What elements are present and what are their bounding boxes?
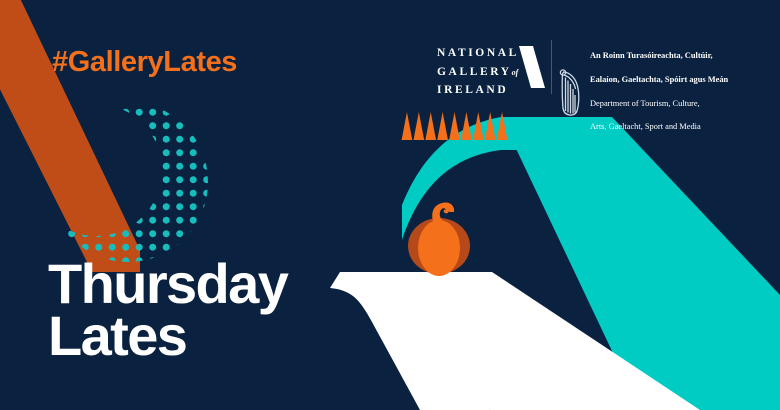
- ngi-line-national: NATIONAL: [437, 44, 519, 63]
- national-gallery-wordmark: NATIONAL GALLERYof IRELAND: [437, 44, 519, 100]
- dept-irish-line-2: Ealaíon, Gaeltachta, Spóirt agus Meán: [590, 74, 728, 86]
- ngi-gallery-word: GALLERY: [437, 66, 512, 78]
- irish-harp-icon: [557, 66, 583, 118]
- national-gallery-logo[interactable]: NATIONAL GALLERYof IRELAND: [437, 44, 545, 96]
- logo-divider: [551, 40, 552, 94]
- ngi-line-ireland: IRELAND: [437, 81, 519, 100]
- diagonal-slash-icon: [517, 46, 547, 96]
- dept-english-line-1: Department of Tourism, Culture,: [590, 98, 728, 110]
- poster-canvas: #GalleryLates Thursday Lates NATIONAL GA…: [0, 0, 780, 410]
- teal-dotted-crescent: [40, 95, 220, 275]
- dept-english-line-2: Arts, Gaeltacht, Sport and Media: [590, 121, 728, 133]
- hashtag-text: #GalleryLates: [52, 48, 237, 77]
- department-text-block: An Roinn Turasóireachta, Cultúir, Ealaío…: [590, 38, 728, 145]
- page-title: Thursday Lates: [48, 258, 287, 361]
- ngi-line-gallery: GALLERYof: [437, 63, 519, 82]
- dept-irish-line-1: An Roinn Turasóireachta, Cultúir,: [590, 50, 728, 62]
- government-department-lockup[interactable]: An Roinn Turasóireachta, Cultúir, Ealaío…: [557, 38, 728, 145]
